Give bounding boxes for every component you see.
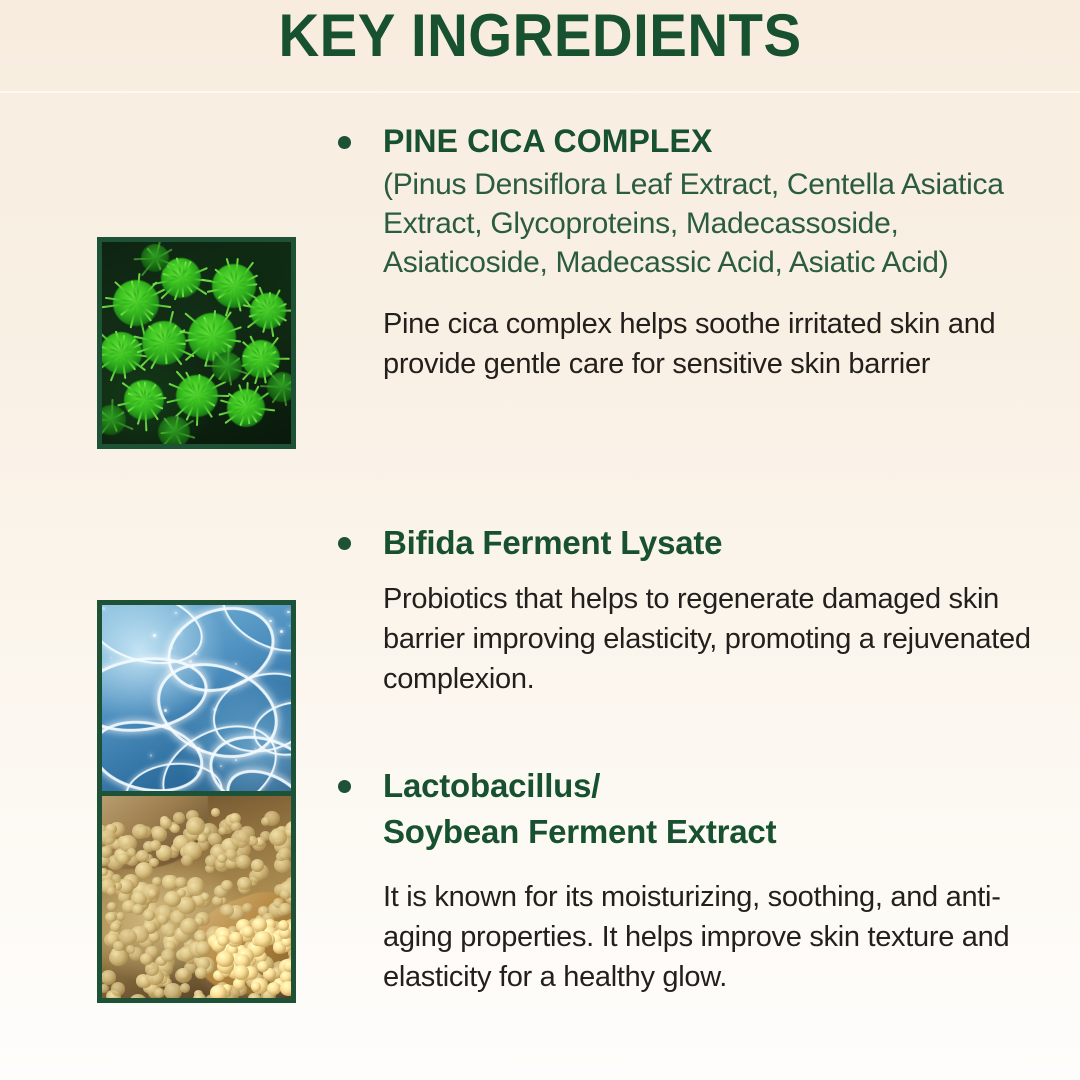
- bifida-text-column: Bifida Ferment Lysate Probiotics that he…: [330, 520, 1050, 699]
- microbe-speck: [175, 612, 177, 614]
- ingredient-description: Probiotics that helps to regenerate dama…: [330, 579, 1050, 699]
- microbe-speck: [197, 747, 200, 750]
- soybean: [279, 903, 291, 914]
- microbe-speck: [153, 634, 156, 637]
- soybean: [210, 985, 227, 998]
- soybean: [170, 824, 180, 833]
- soybean: [157, 914, 169, 925]
- soybean-heading-row: Lactobacillus/ Soybean Ferment Extract: [330, 763, 1050, 855]
- soybean: [143, 910, 155, 921]
- soybean-photo: [102, 796, 291, 998]
- soybean: [283, 960, 291, 972]
- soybean: [119, 929, 137, 946]
- soybean: [242, 903, 253, 913]
- bullet-icon: [338, 537, 351, 550]
- soybean: [180, 918, 198, 935]
- microbe-speck: [150, 754, 153, 757]
- microbe-speck: [189, 660, 192, 663]
- soybean: [175, 877, 186, 887]
- microbe-speck: [199, 664, 200, 665]
- soybean: [254, 931, 272, 948]
- page-title: KEY INGREDIENTS: [32, 4, 1047, 68]
- soybean: [237, 877, 251, 890]
- soybean: [220, 904, 234, 917]
- soybean: [195, 967, 208, 979]
- soybean: [186, 817, 205, 835]
- soybean: [280, 981, 291, 996]
- soybean: [280, 890, 291, 900]
- ingredient-name: Bifida Ferment Lysate: [383, 520, 1050, 566]
- soybean: [161, 949, 175, 962]
- ingredient-item-lactobacillus-soybean-ferment-extract: Lactobacillus/ Soybean Ferment Extract I…: [0, 763, 1080, 1080]
- soybean: [110, 922, 121, 932]
- soybean: [127, 848, 136, 857]
- key-ingredients-page: KEY INGREDIENTS PINE CICA COMPLEX (Pinus…: [0, 0, 1080, 1080]
- bullet-icon: [338, 136, 351, 149]
- soybean: [136, 850, 148, 861]
- pine-cica-heading-row: PINE CICA COMPLEX: [330, 118, 1050, 164]
- soybean: [221, 880, 233, 891]
- soybean: [278, 848, 291, 861]
- microbe-speck: [202, 752, 203, 753]
- microbe-speck: [178, 632, 180, 634]
- soybean: [248, 993, 262, 998]
- ingredient-list: PINE CICA COMPLEX (Pinus Densiflora Leaf…: [0, 93, 1080, 1080]
- pine-needles-photo: [102, 242, 291, 444]
- bifida-heading-row: Bifida Ferment Lysate: [330, 520, 1050, 566]
- soybean: [231, 830, 250, 848]
- soybean: [180, 983, 190, 993]
- microbe-speck: [195, 653, 197, 655]
- ingredient-item-bifida-ferment-lysate: Bifida Ferment Lysate Probiotics that he…: [0, 493, 1080, 793]
- ingredient-item-pine-cica-complex: PINE CICA COMPLEX (Pinus Densiflora Leaf…: [0, 118, 1080, 518]
- ingredient-inci-list: (Pinus Densiflora Leaf Extract, Centella…: [330, 165, 1050, 282]
- soybean: [201, 893, 210, 902]
- soybean: [261, 817, 270, 826]
- soybean: [173, 812, 185, 823]
- ingredient-description: Pine cica complex helps soothe irritated…: [330, 304, 1050, 384]
- ingredient-name: Lactobacillus/ Soybean Ferment Extract: [383, 763, 1050, 855]
- soybean: [107, 902, 117, 912]
- soybean-photo-frame: [97, 791, 296, 1003]
- soybean: [236, 855, 251, 869]
- soybean: [267, 982, 281, 995]
- soybean: [140, 953, 153, 965]
- soybean: [126, 945, 136, 954]
- pine-cica-text-column: PINE CICA COMPLEX (Pinus Densiflora Leaf…: [330, 118, 1050, 384]
- microbe-speck: [102, 607, 105, 610]
- soybean-text-column: Lactobacillus/ Soybean Ferment Extract I…: [330, 763, 1050, 997]
- microbe-speck: [192, 666, 194, 668]
- ingredient-name: PINE CICA COMPLEX: [383, 118, 1050, 164]
- soybean: [229, 932, 242, 944]
- soybean: [147, 889, 157, 898]
- soybean: [278, 920, 289, 931]
- page-header: KEY INGREDIENTS: [0, 0, 1080, 93]
- soybean: [111, 982, 126, 996]
- soybean: [109, 949, 128, 967]
- soybean: [105, 912, 117, 923]
- soybean: [164, 983, 182, 998]
- microbe-speck: [254, 748, 257, 751]
- ingredient-description: It is known for its moisturizing, soothi…: [330, 877, 1050, 997]
- soybean: [176, 889, 185, 898]
- soybean: [216, 951, 233, 967]
- soybean: [211, 808, 220, 816]
- soybean: [132, 824, 148, 839]
- bullet-icon: [338, 780, 351, 793]
- pine-needles-photo-frame: [97, 237, 296, 449]
- soybean: [187, 881, 204, 897]
- soybean: [269, 829, 287, 846]
- soybean: [193, 993, 206, 998]
